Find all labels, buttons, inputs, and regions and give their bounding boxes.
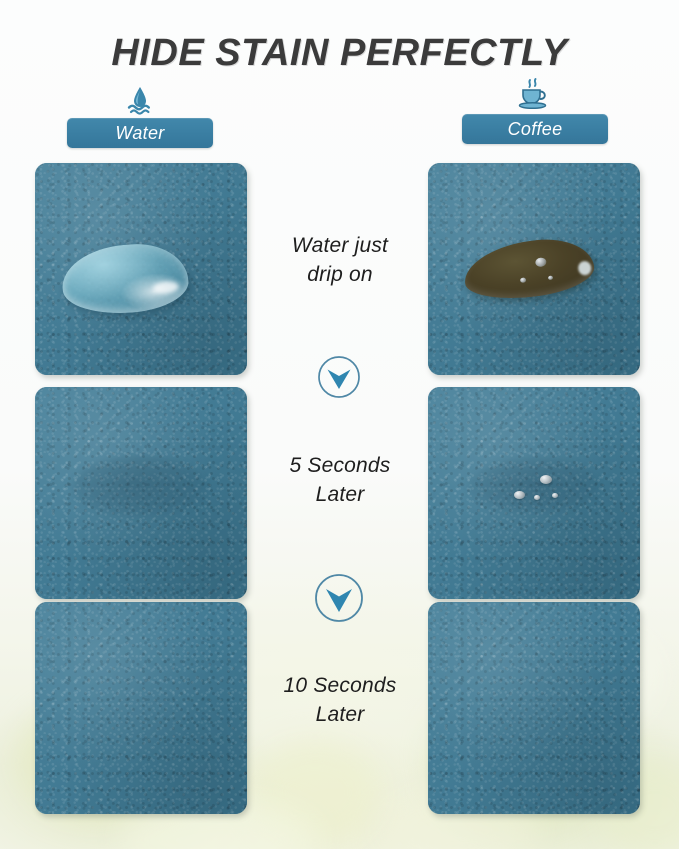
background-bokeh-blob xyxy=(250,740,380,845)
coffee-cup-icon xyxy=(445,82,625,112)
stage-2-caption: 5 Seconds Later xyxy=(247,452,433,510)
badge-water-label: Water xyxy=(115,123,164,143)
coffee-bubble xyxy=(520,277,526,283)
residual-bead xyxy=(540,475,552,484)
water-drop-icon xyxy=(50,86,230,116)
stage-1-caption: Water just drip on xyxy=(247,232,433,290)
stage-2-caption-line2: Later xyxy=(247,481,433,510)
leather-texture xyxy=(428,602,640,814)
badge-coffee-label: Coffee xyxy=(508,119,563,139)
swatch-coffee-stage-3 xyxy=(428,602,640,814)
column-header-water: Water xyxy=(50,86,230,148)
page-title: HIDE STAIN PERFECTLY xyxy=(0,32,679,75)
coffee-bubble xyxy=(535,257,547,267)
badge-water[interactable]: Water xyxy=(67,118,213,148)
chevron-down-circle-icon xyxy=(314,573,364,623)
residual-bead xyxy=(552,493,558,498)
stage-3-caption-line2: Later xyxy=(247,701,433,730)
stage-1-caption-line2: drip on xyxy=(247,261,433,290)
damp-patch xyxy=(468,457,600,513)
swatch-water-stage-2 xyxy=(35,387,247,599)
leather-texture xyxy=(35,602,247,814)
damp-patch xyxy=(72,455,208,517)
stage-3-caption-line1: 10 Seconds xyxy=(247,672,433,701)
chevron-down-circle-icon xyxy=(317,355,361,399)
residual-bead xyxy=(534,495,540,500)
stage-2-caption-line1: 5 Seconds xyxy=(247,452,433,481)
residual-bead xyxy=(514,491,525,499)
column-header-coffee: Coffee xyxy=(445,82,625,144)
swatch-water-stage-3 xyxy=(35,602,247,814)
swatch-coffee-stage-1 xyxy=(428,163,640,375)
swatch-water-stage-1 xyxy=(35,163,247,375)
swatch-coffee-stage-2 xyxy=(428,387,640,599)
stain-resistance-infographic: HIDE STAIN PERFECTLY Water xyxy=(0,0,679,849)
badge-coffee[interactable]: Coffee xyxy=(462,114,608,144)
stage-1-caption-line1: Water just xyxy=(247,232,433,261)
stage-3-caption: 10 Seconds Later xyxy=(247,672,433,730)
coffee-bubble xyxy=(548,276,553,281)
